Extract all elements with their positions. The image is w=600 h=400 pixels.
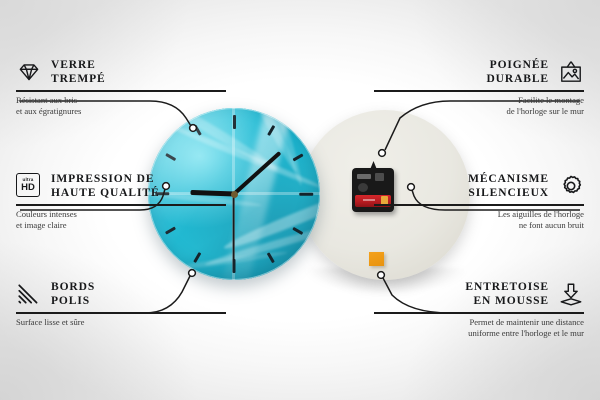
feature-header: ENTRETOISE EN MOUSSE <box>374 280 584 308</box>
feature-divider <box>16 90 226 92</box>
feature-poignee-durable: POIGNÉE DURABLE Facilite le montage de l… <box>374 58 584 117</box>
feature-title: MÉCANISME SILENCIEUX <box>468 172 549 200</box>
mechanism-detail <box>358 183 368 192</box>
feature-desc-line2: de l'horloge sur le mur <box>374 106 584 117</box>
feature-description: Les aiguilles de l'horloge ne font aucun… <box>374 209 584 231</box>
feature-title: BORDS POLIS <box>51 280 95 308</box>
feature-description: Surface lisse et sûre <box>16 317 226 328</box>
feature-header: VERRE TREMPÉ <box>16 58 226 86</box>
feature-title-line1: VERRE <box>51 58 106 72</box>
feature-title: ENTRETOISE EN MOUSSE <box>465 280 549 308</box>
diamond-icon <box>16 59 42 85</box>
foam-spacer <box>369 252 384 266</box>
clock-hand-second <box>233 194 235 260</box>
feature-title: IMPRESSION DE HAUTE QUALITÉ <box>51 172 160 200</box>
feature-desc-line1: Surface lisse et sûre <box>16 317 226 328</box>
feature-desc-line1: Résistant aux bris <box>16 95 226 106</box>
feature-desc-line2: et image claire <box>16 220 226 231</box>
feature-title-line1: MÉCANISME <box>468 172 549 186</box>
feature-description: Résistant aux bris et aux égratignures <box>16 95 226 117</box>
feature-desc-line2: uniforme entre l'horloge et le mur <box>374 328 584 339</box>
feature-header: ultra HD IMPRESSION DE HAUTE QUALITÉ <box>16 172 226 200</box>
feature-desc-line2: et aux égratignures <box>16 106 226 117</box>
feature-desc-line1: Facilite le montage <box>374 95 584 106</box>
mechanism-detail <box>357 174 371 179</box>
feature-header: MÉCANISME SILENCIEUX <box>374 172 584 200</box>
feature-header: POIGNÉE DURABLE <box>374 58 584 86</box>
feature-title-line1: BORDS <box>51 280 95 294</box>
feature-header: BORDS POLIS <box>16 280 226 308</box>
feature-title-line2: TREMPÉ <box>51 72 106 86</box>
feature-description: Facilite le montage de l'horloge sur le … <box>374 95 584 117</box>
feature-title-line1: POIGNÉE <box>486 58 549 72</box>
feature-title-line2: DURABLE <box>486 72 549 86</box>
feature-desc-line1: Couleurs intenses <box>16 209 226 220</box>
diagonal-lines-icon <box>16 281 42 307</box>
feature-title: VERRE TREMPÉ <box>51 58 106 86</box>
infographic-stage: VERRE TREMPÉ Résistant aux bris et aux é… <box>0 0 600 400</box>
feature-desc-line1: Les aiguilles de l'horloge <box>374 209 584 220</box>
feature-divider <box>16 204 226 206</box>
feature-title-line2: POLIS <box>51 294 95 308</box>
feature-desc-line2: ne font aucun bruit <box>374 220 584 231</box>
feature-title-line1: ENTRETOISE <box>465 280 549 294</box>
feature-title-line2: EN MOUSSE <box>465 294 549 308</box>
feature-mecanisme-silencieux: MÉCANISME SILENCIEUX Les aiguilles de l'… <box>374 172 584 231</box>
feature-description: Permet de maintenir une distance uniform… <box>374 317 584 339</box>
feature-description: Couleurs intenses et image claire <box>16 209 226 231</box>
picture-hanger-icon <box>558 59 584 85</box>
feature-divider <box>16 312 226 314</box>
clock-hand-cap <box>231 191 238 198</box>
feature-desc-line1: Permet de maintenir une distance <box>374 317 584 328</box>
feature-divider <box>374 90 584 92</box>
feature-title-line1: IMPRESSION DE <box>51 172 160 186</box>
gear-icon <box>558 173 584 199</box>
feature-title-line2: HAUTE QUALITÉ <box>51 186 160 200</box>
arrow-down-to-layer-icon <box>558 281 584 307</box>
feature-divider <box>374 204 584 206</box>
ultra-hd-badge-icon: ultra HD <box>16 173 42 199</box>
feature-impression-haute-qualite: ultra HD IMPRESSION DE HAUTE QUALITÉ Cou… <box>16 172 226 231</box>
feature-entretoise-en-mousse: ENTRETOISE EN MOUSSE Permet de maintenir… <box>374 280 584 339</box>
ultra-hd-main-text: HD <box>21 183 35 193</box>
feature-title: POIGNÉE DURABLE <box>486 58 549 86</box>
feature-title-line2: SILENCIEUX <box>468 186 549 200</box>
feature-bords-polis: BORDS POLIS Surface lisse et sûre <box>16 280 226 328</box>
feature-divider <box>374 312 584 314</box>
feature-verre-trempe: VERRE TREMPÉ Résistant aux bris et aux é… <box>16 58 226 117</box>
